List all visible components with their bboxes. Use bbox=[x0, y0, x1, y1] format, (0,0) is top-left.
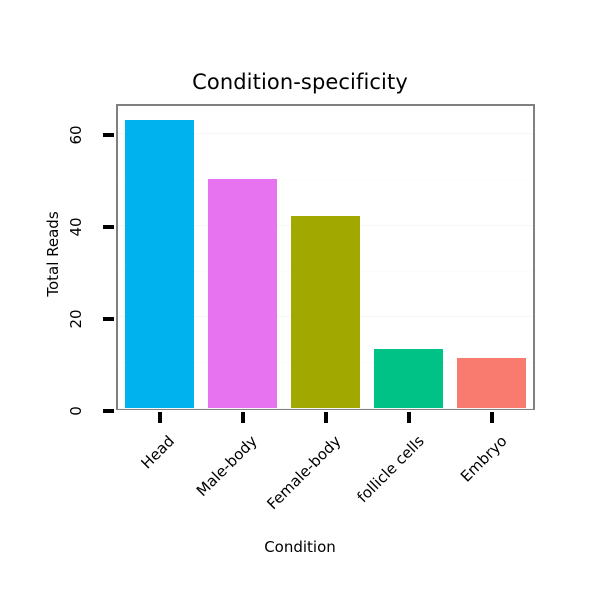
x-tick-label-male-body: Male-body bbox=[193, 432, 261, 500]
y-axis-title: Total Reads bbox=[44, 184, 62, 324]
x-tick-mark-1 bbox=[241, 412, 245, 423]
y-tick-mark-40 bbox=[103, 225, 114, 229]
y-tick-mark-20 bbox=[103, 317, 114, 321]
x-tick-label-embryo: Embryo bbox=[457, 432, 511, 486]
bar-male-body[interactable] bbox=[208, 179, 276, 408]
bar-head[interactable] bbox=[125, 120, 193, 408]
bar-embryo[interactable] bbox=[457, 358, 525, 408]
y-tick-label-0: 0 bbox=[67, 391, 85, 431]
y-tick-mark-60 bbox=[103, 133, 114, 137]
bar-female-body[interactable] bbox=[291, 216, 359, 408]
x-tick-mark-0 bbox=[158, 412, 162, 423]
y-tick-label-40: 40 bbox=[67, 207, 85, 247]
x-axis-title: Condition bbox=[0, 538, 600, 556]
x-tick-label-female-body: Female-body bbox=[263, 432, 344, 513]
gridline-major bbox=[118, 408, 533, 409]
y-tick-mark-0 bbox=[103, 409, 114, 413]
y-tick-label-60: 60 bbox=[67, 115, 85, 155]
x-tick-label-follicle-cells: follicle cells bbox=[353, 432, 427, 506]
x-tick-mark-3 bbox=[407, 412, 411, 423]
page-title: Condition-specificity bbox=[0, 70, 600, 94]
chart-canvas: Condition-specificity Total Reads 60 40 … bbox=[0, 0, 600, 600]
x-tick-mark-4 bbox=[490, 412, 494, 423]
plot-panel bbox=[116, 104, 535, 410]
bar-follicle-cells[interactable] bbox=[374, 349, 442, 408]
x-tick-mark-2 bbox=[324, 412, 328, 423]
y-tick-label-20: 20 bbox=[67, 299, 85, 339]
x-tick-label-head: Head bbox=[138, 432, 178, 472]
plot-area bbox=[118, 106, 533, 408]
